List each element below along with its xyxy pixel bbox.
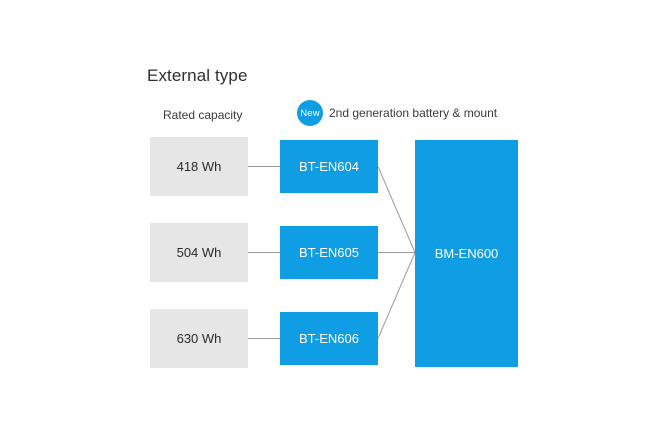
battery-box-2: BT-EN605: [280, 226, 378, 279]
legend-label: 2nd generation battery & mount: [329, 106, 497, 120]
page-title: External type: [147, 66, 248, 86]
battery-box-3: BT-EN606: [280, 312, 378, 365]
new-badge-icon: New: [297, 100, 323, 126]
connector-battery-mount-3: [378, 253, 415, 339]
capacity-box-3: 630 Wh: [150, 309, 248, 368]
legend-new-generation: New 2nd generation battery & mount: [297, 100, 497, 126]
capacity-box-1: 418 Wh: [150, 137, 248, 196]
connector-battery-mount-1: [378, 167, 415, 253]
capacity-box-2: 504 Wh: [150, 223, 248, 282]
external-type-diagram: External type Rated capacity New 2nd gen…: [0, 0, 666, 438]
mount-box: BM-EN600: [415, 140, 518, 367]
connector-lines: [0, 0, 666, 438]
column-header-rated-capacity: Rated capacity: [163, 108, 242, 122]
battery-box-1: BT-EN604: [280, 140, 378, 193]
